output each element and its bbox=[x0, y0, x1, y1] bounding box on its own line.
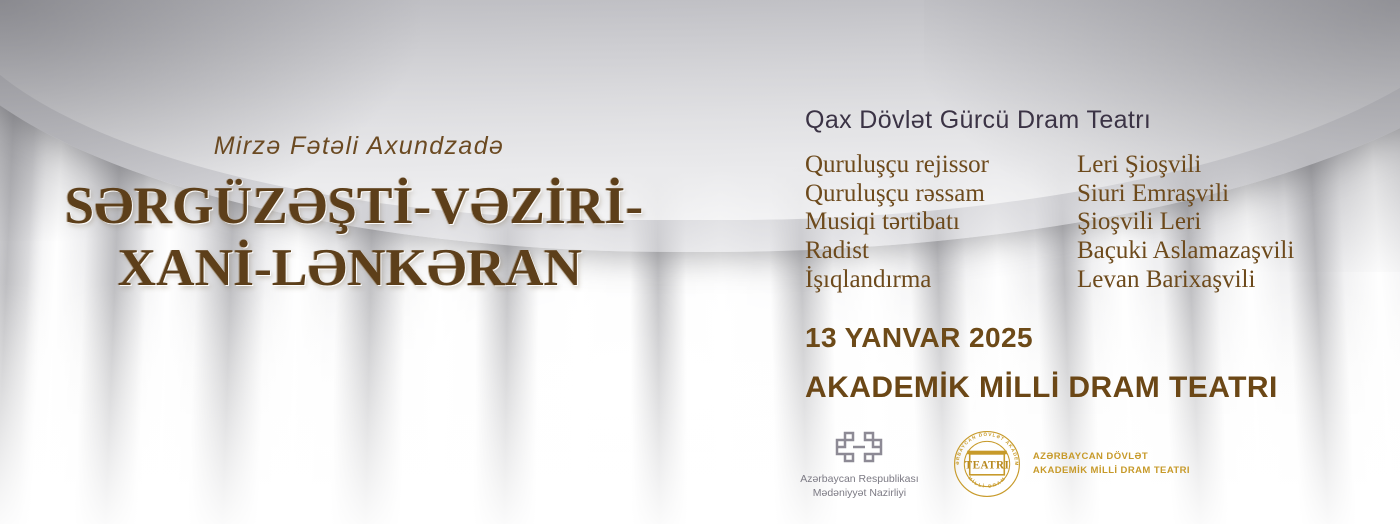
venue-name: AKADEMİK MİLLİ DRAM TEATRI bbox=[805, 371, 1380, 405]
theatre-logo-text: AZƏRBAYCAN DÖVLƏT AKADEMİK MİLLİ DRAM TE… bbox=[1033, 450, 1190, 478]
play-title-block: Mirzə Fətəli Axundzadə SƏRGÜZƏŞTİ-VƏZİRİ… bbox=[0, 132, 700, 296]
credit-name: Levan Barixaşvili bbox=[1077, 266, 1377, 295]
guest-theatre-name: Qax Dövlət Gürcü Dram Teatrı bbox=[805, 106, 1380, 135]
play-title-line-1: SƏRGÜZƏŞTİ-VƏZİRİ- bbox=[0, 178, 700, 234]
credit-role: Quruluşçu rəssam bbox=[805, 180, 1077, 209]
credits-table: Quruluşçu rejissor Quruluşçu rəssam Musi… bbox=[805, 151, 1380, 294]
performance-date: 13 YANVAR 2025 bbox=[805, 322, 1380, 354]
credit-name: Baçuki Aslamazaşvili bbox=[1077, 237, 1377, 266]
interlaced-knot-icon bbox=[830, 428, 888, 466]
credit-role: Quruluşçu rejissor bbox=[805, 151, 1077, 180]
theatre-logo-line-2: AKADEMİK MİLLİ DRAM TEATRI bbox=[1033, 464, 1190, 478]
seal-center-label: TEATRI bbox=[965, 459, 1010, 471]
playwright-name: Mirzə Fətəli Axundzadə bbox=[0, 132, 700, 161]
theatre-logo-line-1: AZƏRBAYCAN DÖVLƏT bbox=[1033, 450, 1190, 464]
play-title-line-2: XANİ-LƏNKƏRAN bbox=[0, 240, 700, 296]
credit-name: Şioşvili Leri bbox=[1077, 208, 1377, 237]
seal-ring-bottom-label: MİLLİ DRAM bbox=[967, 475, 1007, 488]
ministry-logo-line-1: Azərbaycan Respublikası bbox=[800, 473, 918, 487]
credit-role: Musiqi tərtibatı bbox=[805, 208, 1077, 237]
credit-role: İşıqlandırma bbox=[805, 266, 1077, 295]
credits-roles-column: Quruluşçu rejissor Quruluşçu rəssam Musi… bbox=[805, 151, 1077, 294]
performance-details-block: Qax Dövlət Gürcü Dram Teatrı Quruluşçu r… bbox=[805, 106, 1380, 405]
ministry-logo-line-2: Mədəniyyət Nazirliyi bbox=[800, 487, 918, 501]
credit-role: Radist bbox=[805, 237, 1077, 266]
national-drama-theatre-logo: TEATRI AZƏRBAYCAN DÖVLƏT AKADEMİK MİLLİ … bbox=[951, 428, 1190, 500]
ministry-logo-text: Azərbaycan Respublikası Mədəniyyət Nazir… bbox=[800, 473, 918, 501]
ministry-of-culture-logo: Azərbaycan Respublikası Mədəniyyət Nazir… bbox=[790, 428, 929, 501]
theatre-seal-icon: TEATRI AZƏRBAYCAN DÖVLƏT AKADEMİK MİLLİ … bbox=[951, 428, 1023, 500]
credit-name: Leri Şioşvili bbox=[1077, 151, 1377, 180]
credits-names-column: Leri Şioşvili Siuri Emraşvili Şioşvili L… bbox=[1077, 151, 1377, 294]
theatre-poster-banner: Mirzə Fətəli Axundzadə SƏRGÜZƏŞTİ-VƏZİRİ… bbox=[0, 0, 1400, 524]
credit-name: Siuri Emraşvili bbox=[1077, 180, 1377, 209]
page-title: SƏRGÜZƏŞTİ-VƏZİRİ- XANİ-LƏNKƏRAN bbox=[0, 178, 700, 296]
logo-row: Azərbaycan Respublikası Mədəniyyət Nazir… bbox=[790, 428, 1190, 514]
